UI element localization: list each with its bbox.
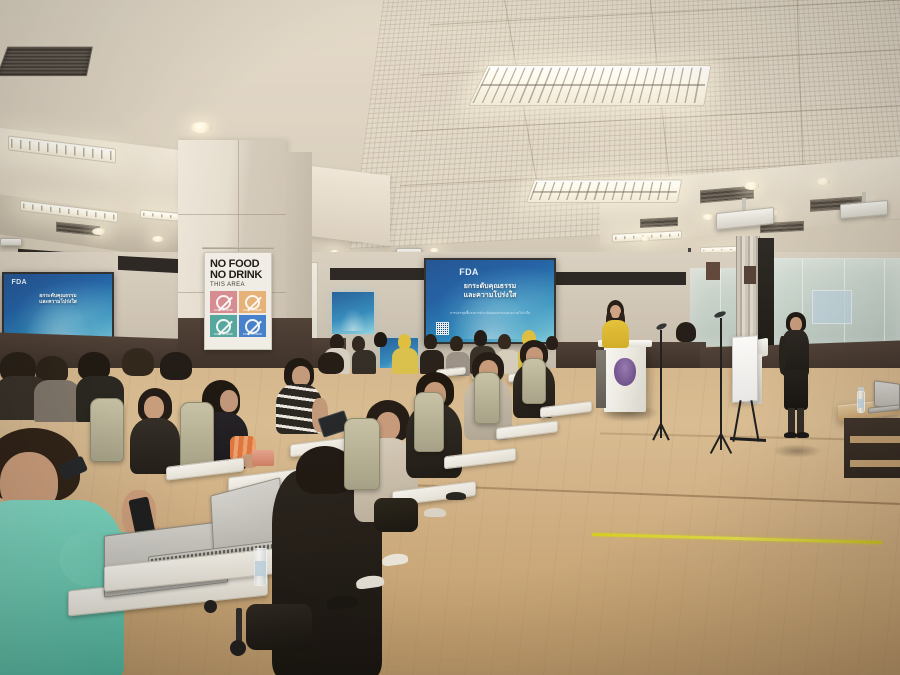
sign-icon-caption: FOOD OR DRINK [239,309,266,312]
table-drawer-edge [850,436,900,443]
chair-back [344,418,380,490]
audience-head [398,334,411,349]
audience-body [34,380,80,422]
sign-icon-caption: FOOD OR DRINK [210,309,237,312]
sign-line-2: NO DRINK [210,270,266,281]
qr-code-icon [436,322,449,335]
held-item [252,450,274,466]
audience-body [352,350,376,374]
bottle-cap [858,387,864,391]
audience-head [424,334,437,349]
standing-speaker [778,312,812,448]
slide-headline: ยกระดับคุณธรรม และความโปร่งใส [10,293,105,306]
slide-headline: ยกระดับคุณธรรม และความโปร่งใส [434,283,547,301]
leg [797,408,804,434]
leg [788,408,795,434]
chair-caster [204,600,217,613]
audience-head [474,330,487,346]
fda-logo-text: FDA [459,267,478,277]
projection-screen-main: FDA ยกระดับคุณธรรม และความโปร่งใส การประ… [424,258,556,344]
slide-subline: การประชุมชี้แจงการประเมินคุณธรรมและความโ… [436,311,544,315]
flip-chart-easel [732,335,758,403]
audience-head [450,336,463,351]
audience-head [676,322,696,342]
wall-panel [706,262,720,280]
dark-ceiling-beam [556,272,686,285]
wall-recess [758,238,774,348]
air-vent-grille [0,47,93,76]
audience-head [352,336,365,351]
chair-back [414,392,444,452]
microphone-stand-pole [720,318,722,436]
ceiling-downlight [816,178,830,185]
microphone-stand-pole [660,330,662,426]
ceiling-troffer-light [468,65,711,106]
chair-caster [230,640,246,656]
ceiling-downlight [92,228,106,235]
sign-icon-caption: FOOD OR DRINK [239,333,266,336]
chair-back [522,358,546,404]
water-bottle [857,391,865,413]
table-drawer-edge [850,460,900,467]
ceiling-downlight [640,236,650,241]
ceiling-downlight [190,122,212,133]
shoe [446,492,466,500]
no-food-icon: FOOD OR DRINK [210,291,237,313]
ceiling-downlight [744,182,759,190]
audience-head [374,332,387,347]
skirt [784,370,808,410]
accordion-partition [736,236,760,348]
podium-side [596,350,606,408]
speaker-at-podium [598,300,632,356]
no-food-no-drink-sign: NO FOOD NO DRINK THIS AREA FOOD OR DRINK… [204,252,272,350]
fda-logo-text: FDA [12,279,27,286]
audience-body [392,348,418,374]
tripod-leg [720,434,722,450]
slide-content-main: FDA ยกระดับคุณธรรม และความโปร่งใส การประ… [426,260,554,342]
no-drink-icon: FOOD OR DRINK [239,291,266,313]
sign-icon-caption: FOOD OR DRINK [210,333,237,336]
podium-emblem-icon [614,358,636,386]
bag-under-chair [246,604,312,650]
bag-under-chair [374,498,418,532]
ceiling-downlight [702,214,714,220]
ceiling-downlight [152,236,164,242]
wall-panel [744,266,756,284]
shoe [796,432,809,438]
sign-hanging-rail [202,247,274,249]
chair-back [474,372,500,424]
projection-screen-back-a [332,292,374,334]
water-bottle [254,548,267,586]
sign-icon-grid: FOOD OR DRINK FOOD OR DRINK FOOD OR DRIN… [210,291,266,337]
no-snack-icon: FOOD OR DRINK [210,315,237,337]
ceiling-projector [0,238,22,246]
sign-line-3: THIS AREA [210,282,266,288]
audience-head [160,352,192,380]
no-beverage-icon: FOOD OR DRINK [239,315,266,337]
ceiling-troffer-light [526,179,683,202]
glass-wall-poster [812,290,852,324]
audience-head [122,348,154,376]
tripod-leg [660,424,662,438]
shoe [424,508,446,517]
audience-head [498,334,511,349]
conference-hall-photo: 05 FDA ยกระดับคุณธรรม และความโปร่งใส FDA… [0,0,900,675]
side-table-front [844,418,900,478]
